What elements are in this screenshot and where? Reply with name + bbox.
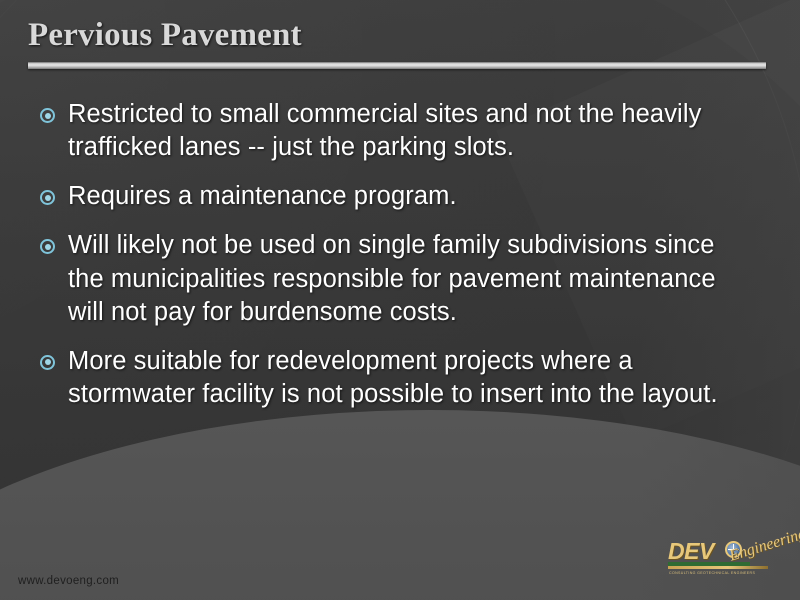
list-item: Restricted to small commercial sites and… — [40, 98, 756, 164]
slide: Pervious Pavement Restricted to small co… — [0, 0, 800, 600]
logo-caption: CONSULTING GEOTECHNICAL ENGINEERS — [669, 571, 755, 575]
circle-dot-bullet-icon — [40, 239, 55, 254]
circle-dot-bullet-icon — [40, 355, 55, 370]
list-item-text: Restricted to small commercial sites and… — [68, 98, 756, 164]
page-title: Pervious Pavement — [28, 18, 770, 53]
logo-wordmark: DEV — [668, 538, 714, 565]
logo-gold-bar — [668, 566, 768, 569]
title-block: Pervious Pavement — [28, 18, 770, 69]
list-item: Requires a maintenance program. — [40, 180, 756, 213]
title-underline-rule — [28, 62, 766, 69]
list-item-text: More suitable for redevelopment projects… — [68, 345, 756, 411]
list-item: Will likely not be used on single family… — [40, 229, 756, 328]
list-item: More suitable for redevelopment projects… — [40, 345, 756, 411]
list-item-text: Requires a maintenance program. — [68, 180, 457, 213]
circle-dot-bullet-icon — [40, 108, 55, 123]
circle-dot-bullet-icon — [40, 190, 55, 205]
company-logo: DEV Engineering CONSULTING GEOTECHNICAL … — [668, 536, 786, 584]
bullet-list: Restricted to small commercial sites and… — [40, 98, 756, 427]
list-item-text: Will likely not be used on single family… — [68, 229, 756, 328]
footer-website-url: www.devoeng.com — [18, 575, 119, 587]
